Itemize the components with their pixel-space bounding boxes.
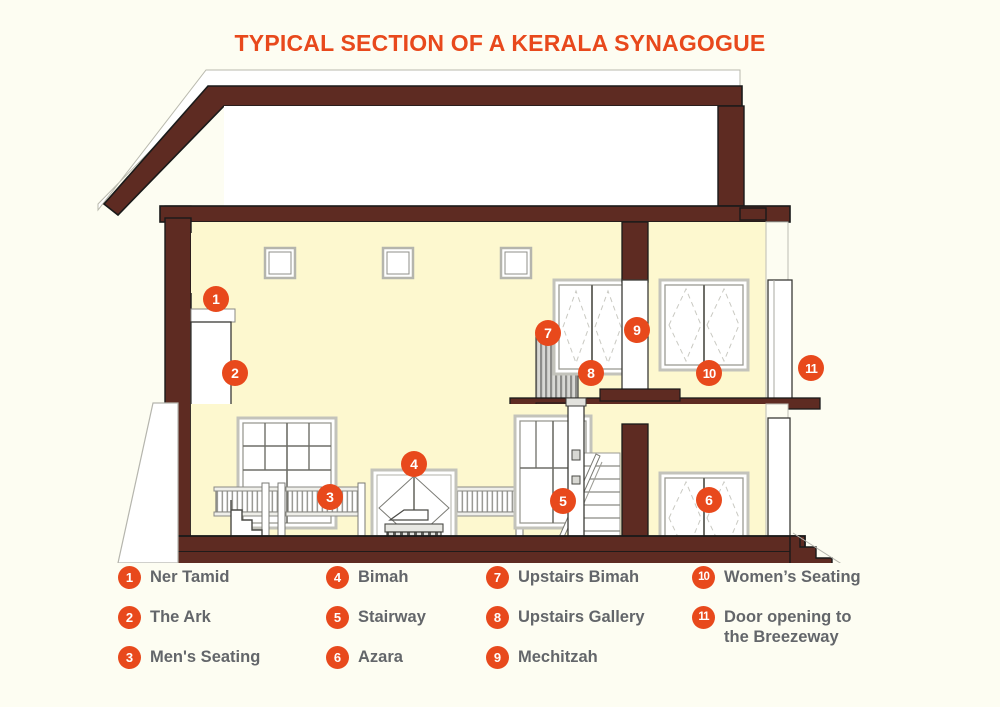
legend-item-5[interactable]: 5 Stairway [326,606,426,632]
legend-label-8: Upstairs Gallery [518,606,645,627]
foundation [140,536,805,563]
legend-column-1: 1 Ner Tamid 2 The Ark 3 Men's Seating [118,566,260,686]
clerestory-window [501,248,531,278]
callout-marker-2[interactable]: 2 [222,360,248,386]
bench-left [216,490,280,512]
central-column-lower [622,424,648,546]
legend-item-11[interactable]: 11 Door opening to the Breezeway [692,606,861,647]
legend-badge-7: 7 [486,566,509,589]
attic-space [224,106,742,206]
stair-newel-post [568,400,584,548]
legend-item-3[interactable]: 3 Men's Seating [118,646,260,672]
callout-marker-11[interactable]: 11 [798,355,824,381]
legend-badge-10: 10 [692,566,715,589]
legend-badge-2: 2 [118,606,141,629]
callout-marker-6[interactable]: 6 [696,487,722,513]
exterior-buttress [118,403,178,563]
attic-right-post [718,106,744,206]
legend-badge-1: 1 [118,566,141,589]
legend-item-6[interactable]: 6 Azara [326,646,426,672]
bimah-platform [385,524,443,532]
ceiling-beam [160,206,790,222]
legend-label-3: Men's Seating [150,646,260,667]
legend-label-7: Upstairs Bimah [518,566,639,587]
legend-badge-9: 9 [486,646,509,669]
legend-column-4: 10 Women’s Seating 11 Door opening to th… [692,566,861,661]
legend-badge-3: 3 [118,646,141,669]
womens-seating-window [660,280,748,370]
callout-marker-1[interactable]: 1 [203,286,229,312]
callout-marker-10[interactable]: 10 [696,360,722,386]
legend-item-8[interactable]: 8 Upstairs Gallery [486,606,645,632]
callout-marker-9[interactable]: 9 [624,317,650,343]
legend-label-1: Ner Tamid [150,566,229,587]
mechitzah-upper-post [622,222,648,282]
callout-marker-8[interactable]: 8 [578,360,604,386]
ceiling-beam-right-cap [740,208,766,220]
legend-label-5: Stairway [358,606,426,627]
legend-label-10: Women’s Seating [724,566,861,587]
legend-item-4[interactable]: 4 Bimah [326,566,426,592]
plinth [165,552,805,563]
legend-column-2: 4 Bimah 5 Stairway 6 Azara [326,566,426,686]
legend-badge-11: 11 [692,606,715,629]
callout-marker-7[interactable]: 7 [535,320,561,346]
attic-group [160,106,790,222]
legend-badge-8: 8 [486,606,509,629]
page-title: TYPICAL SECTION OF A KERALA SYNAGOGUE [0,30,1000,57]
legend-badge-6: 6 [326,646,349,669]
legend: 1 Ner Tamid 2 The Ark 3 Men's Seating 4 … [0,566,1000,696]
legend-label-4: Bimah [358,566,408,587]
lower-door-opening [768,418,790,546]
legend-item-7[interactable]: 7 Upstairs Bimah [486,566,645,592]
section-drawing [0,58,1000,563]
legend-label-6: Azara [358,646,403,667]
gallery-floor-bracket [600,389,680,401]
callout-marker-3[interactable]: 3 [317,484,343,510]
clerestory-window [265,248,295,278]
callout-marker-5[interactable]: 5 [550,488,576,514]
legend-item-1[interactable]: 1 Ner Tamid [118,566,260,592]
legend-badge-5: 5 [326,606,349,629]
clerestory-window [383,248,413,278]
ner-tamid [191,233,197,293]
synagogue-section-svg [0,58,1000,563]
callout-marker-4[interactable]: 4 [401,451,427,477]
bench-right [452,490,522,512]
exterior-steps [790,528,848,563]
legend-label-2: The Ark [150,606,211,627]
breezeway-door [768,280,792,404]
legend-label-11: Door opening to the Breezeway [724,606,851,647]
legend-item-10[interactable]: 10 Women’s Seating [692,566,861,592]
legend-label-9: Mechitzah [518,646,598,667]
legend-item-9[interactable]: 9 Mechitzah [486,646,645,672]
floor-beam [165,536,805,552]
legend-badge-4: 4 [326,566,349,589]
legend-item-2[interactable]: 2 The Ark [118,606,260,632]
legend-column-3: 7 Upstairs Bimah 8 Upstairs Gallery 9 Me… [486,566,645,686]
